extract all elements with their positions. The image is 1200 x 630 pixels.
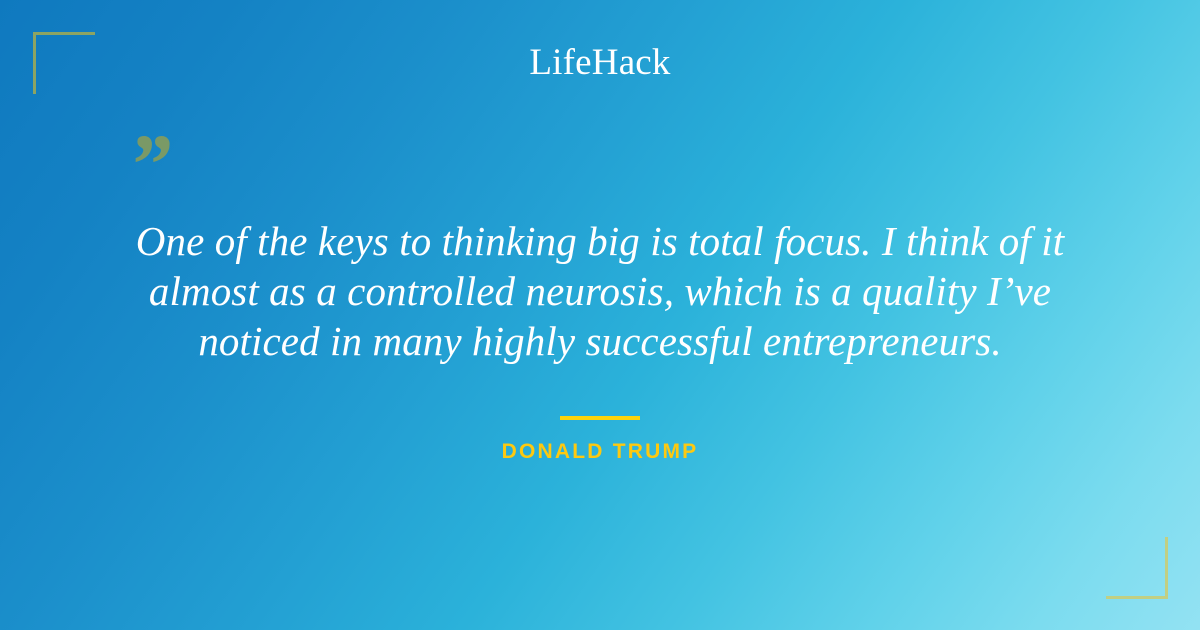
- lifehack-logo[interactable]: LifeHack: [0, 41, 1200, 85]
- quote-line-1: One of the keys to thinking big is total…: [100, 216, 1100, 266]
- attribution-container: DONALD TRUMP: [0, 439, 1200, 464]
- quote-mark-icon: ”: [128, 121, 171, 207]
- corner-bracket-bottom-right-icon: [1106, 537, 1168, 599]
- divider-container: [0, 407, 1200, 425]
- quote-block: One of the keys to thinking big is total…: [100, 216, 1100, 366]
- quote-line-2: almost as a controlled neurosis, which i…: [100, 266, 1100, 316]
- accent-divider: [560, 416, 640, 420]
- quote-card: LifeHack ” One of the keys to thinking b…: [0, 0, 1200, 630]
- quote-line-3: noticed in many highly successful entrep…: [100, 316, 1100, 366]
- quote-author: DONALD TRUMP: [502, 439, 699, 464]
